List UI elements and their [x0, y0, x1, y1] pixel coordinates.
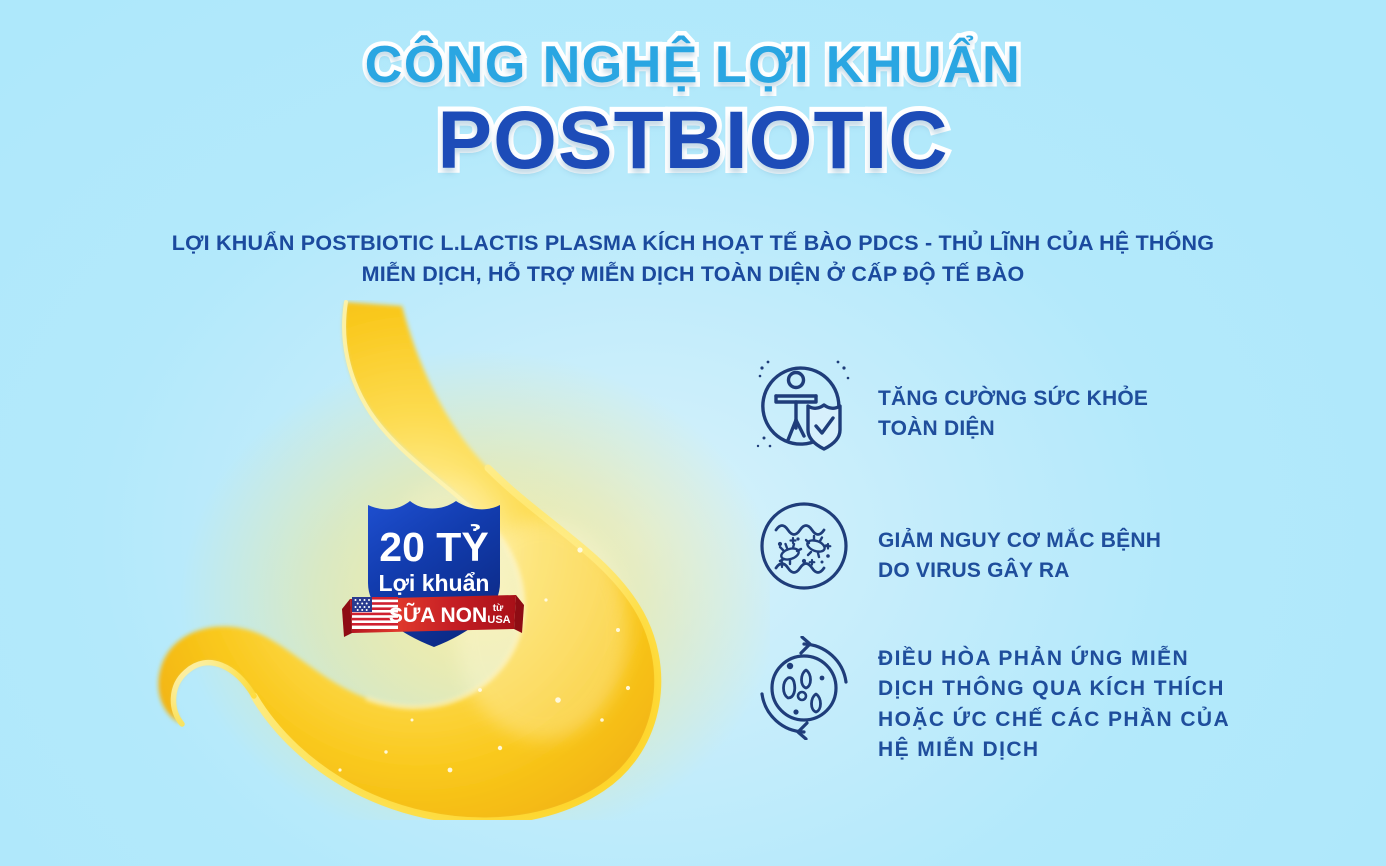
feature-label-virus: GIẢM NGUY CƠ MẮC BỆNH DO VIRUS GÂY RA — [878, 494, 1161, 587]
subtitle-block: LỢI KHUẨN POSTBIOTIC L.LACTIS PLASMA KÍC… — [103, 228, 1283, 289]
feature-line: GIẢM NGUY CƠ MẮC BỆNH — [878, 526, 1161, 556]
feature-line: DỊCH THÔNG QUA KÍCH THÍCH — [878, 674, 1230, 704]
virus-bacteria-circle-icon — [752, 494, 856, 598]
postbiotic-infographic: CÔNG NGHỆ LỢI KHUẨN POSTBIOTIC LỢI KHUẨN… — [0, 0, 1386, 866]
feature-line: TĂNG CƯỜNG SỨC KHỎE — [878, 384, 1148, 414]
title-line-2: POSTBIOTIC — [0, 99, 1386, 183]
feature-line: DO VIRUS GÂY RA — [878, 556, 1161, 586]
feature-line: HOẶC ỨC CHẾ CÁC PHẦN CỦA — [878, 705, 1230, 735]
feature-line: ĐIỀU HÒA PHẢN ỨNG MIỄN — [878, 644, 1230, 674]
feature-label-health: TĂNG CƯỜNG SỨC KHỎE TOÀN DIỆN — [878, 352, 1148, 445]
feature-item-virus: GIẢM NGUY CƠ MẮC BỆNH DO VIRUS GÂY RA — [752, 494, 1222, 598]
badge-amount: 20 TỶ — [379, 524, 488, 570]
immune-cycle-cell-icon — [752, 636, 856, 740]
ribbon-small-text-1: từ — [493, 603, 504, 614]
probiotic-count-badge: 20 TỶ Lợi khuẩn — [338, 487, 528, 657]
ribbon-small-text-2: USA — [487, 614, 510, 626]
title-line-1: CÔNG NGHỆ LỢI KHUẨN — [0, 38, 1386, 93]
person-shield-check-icon — [752, 352, 856, 456]
feature-label-immune-regulation: ĐIỀU HÒA PHẢN ỨNG MIỄN DỊCH THÔNG QUA KÍ… — [878, 636, 1230, 766]
feature-item-immune-regulation: ĐIỀU HÒA PHẢN ỨNG MIỄN DỊCH THÔNG QUA KÍ… — [752, 636, 1222, 766]
features-list: TĂNG CƯỜNG SỨC KHỎE TOÀN DIỆN — [752, 352, 1222, 766]
badge-subject: Lợi khuẩn — [379, 570, 490, 596]
ribbon-main-text: SỮA NON — [389, 603, 487, 627]
feature-line: TOÀN DIỆN — [878, 414, 1148, 444]
feature-item-health: TĂNG CƯỜNG SỨC KHỎE TOÀN DIỆN — [752, 352, 1222, 456]
subtitle-line-2: MIỄN DỊCH, HỖ TRỢ MIỄN DỊCH TOÀN DIỆN Ở … — [103, 259, 1283, 290]
subtitle-line-1: LỢI KHUẨN POSTBIOTIC L.LACTIS PLASMA KÍC… — [103, 228, 1283, 259]
title-block: CÔNG NGHỆ LỢI KHUẨN POSTBIOTIC — [0, 38, 1386, 182]
feature-line: HỆ MIỄN DỊCH — [878, 735, 1230, 765]
